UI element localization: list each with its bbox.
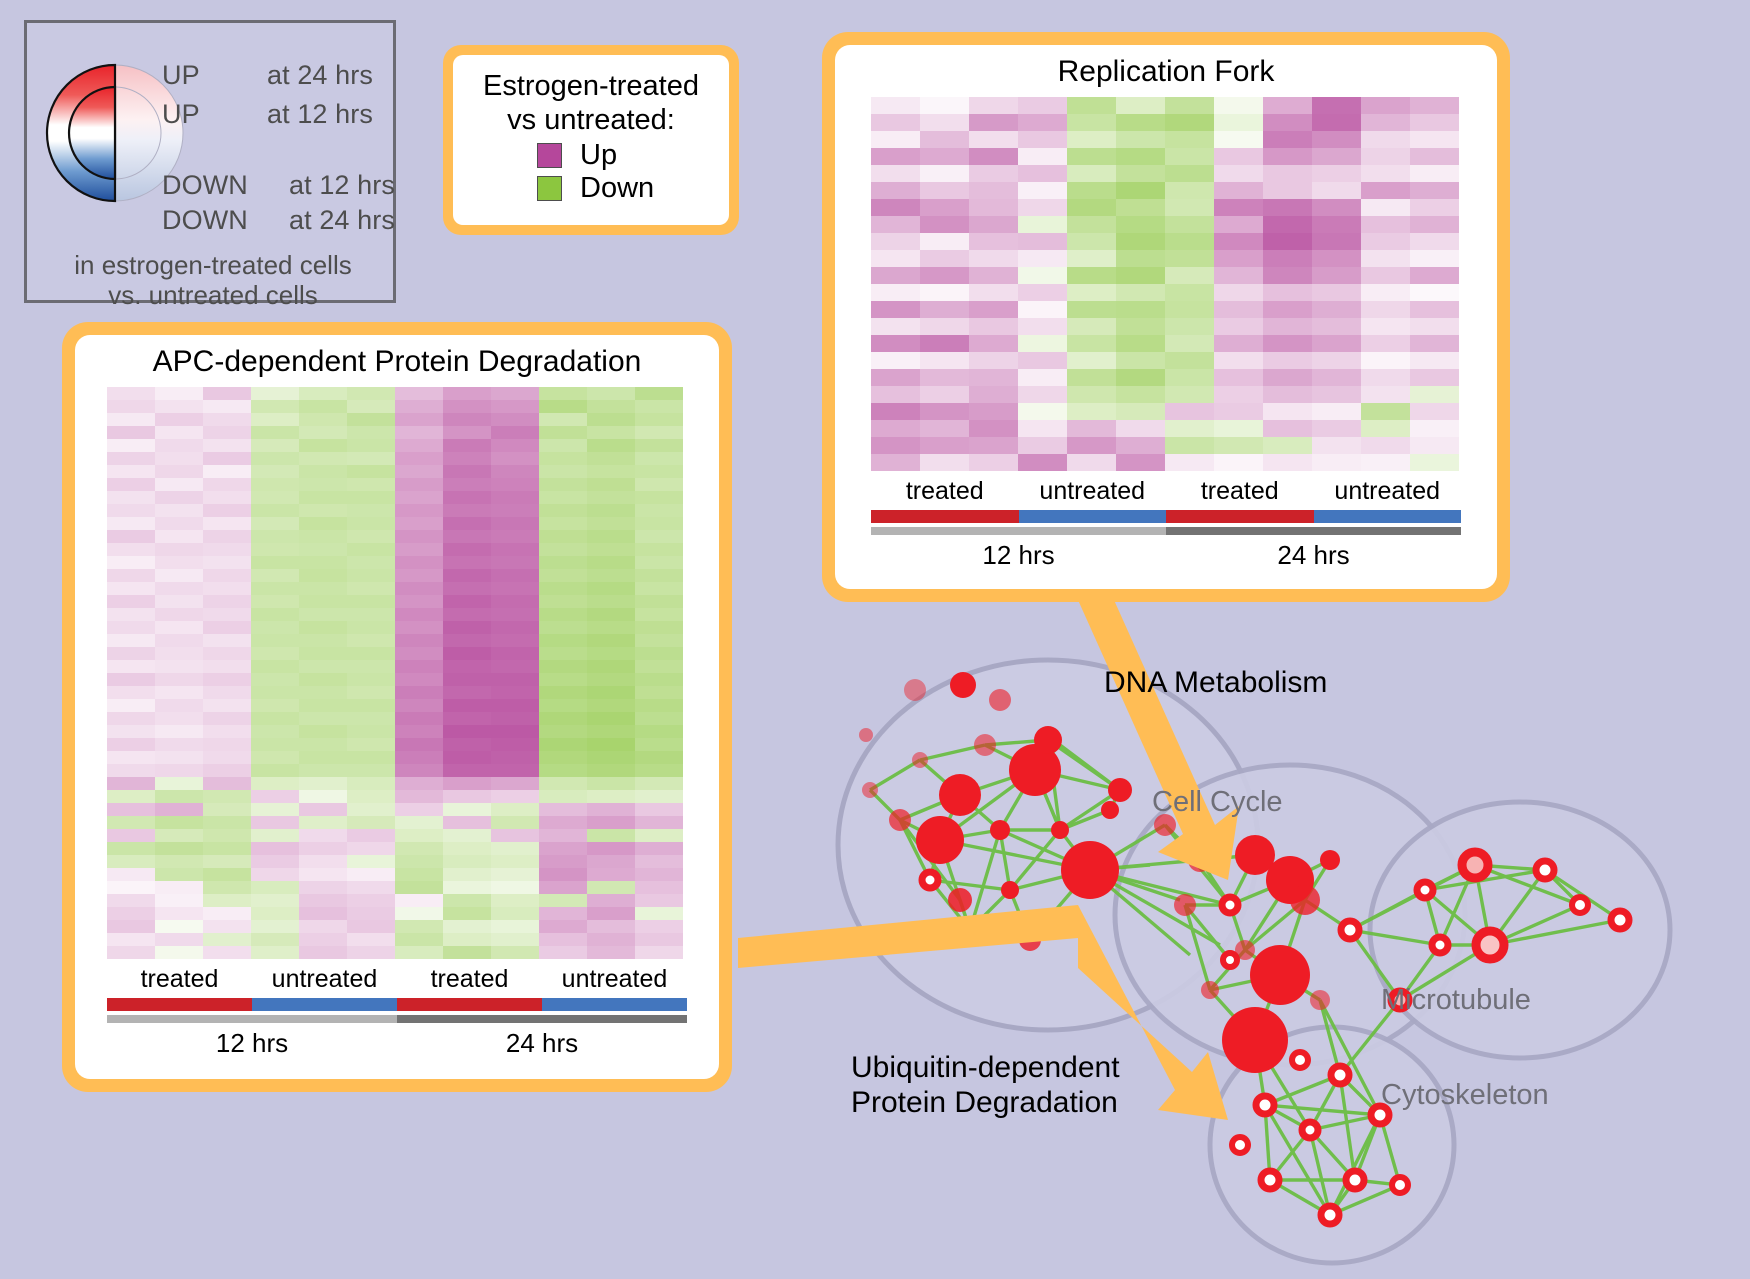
heatmap-cell xyxy=(347,946,395,959)
heatmap-cell xyxy=(1116,318,1165,335)
heatmap-cell xyxy=(347,764,395,777)
heatmap-cell xyxy=(539,933,587,946)
heatmap-cell xyxy=(1263,250,1312,267)
heatmap-cell xyxy=(203,517,251,530)
axis-group-name: treated xyxy=(397,959,542,997)
heatmap-cell xyxy=(1410,335,1459,352)
updown-legend-card: Estrogen-treated vs untreated: Up Down xyxy=(443,45,739,235)
heatmap-cell xyxy=(635,608,683,621)
axis-group-swatch xyxy=(1166,510,1314,523)
heatmap-cell xyxy=(155,673,203,686)
heatmap-cell xyxy=(1361,284,1410,301)
heatmap-cell xyxy=(635,387,683,400)
heatmap-cell xyxy=(1165,267,1214,284)
heatmap-cell xyxy=(920,437,969,454)
heatmap-cell xyxy=(1263,216,1312,233)
heatmap-cell xyxy=(1018,301,1067,318)
heatmap-cell xyxy=(969,403,1018,420)
axis-group-name: untreated xyxy=(252,959,397,997)
heatmap-cell xyxy=(443,868,491,881)
heatmap-cell xyxy=(395,881,443,894)
heatmap-cell xyxy=(155,582,203,595)
heatmap-cell xyxy=(635,673,683,686)
axis-time-name: 12 hrs xyxy=(871,535,1166,571)
heatmap-cell xyxy=(155,660,203,673)
heatmap-cell xyxy=(203,413,251,426)
heatmap-cell xyxy=(491,777,539,790)
heatmap-cell xyxy=(635,816,683,829)
heatmap-cell xyxy=(1263,420,1312,437)
heatmap-cell xyxy=(539,413,587,426)
heatmap-cell xyxy=(251,946,299,959)
heatmap-cell xyxy=(1263,454,1312,471)
heatmap-cell xyxy=(1165,437,1214,454)
heatmap-cell xyxy=(635,660,683,673)
heatmap-cell xyxy=(1214,335,1263,352)
heatmap-cell xyxy=(1067,403,1116,420)
heatmap-cell xyxy=(1214,420,1263,437)
heatmap-cell xyxy=(1312,267,1361,284)
heatmap-cell xyxy=(347,829,395,842)
heatmap-cell xyxy=(1018,437,1067,454)
heatmap-cell xyxy=(539,452,587,465)
heatmap-cell xyxy=(491,660,539,673)
heatmap-cell xyxy=(1361,182,1410,199)
heatmap-cell xyxy=(395,608,443,621)
heatmap-cell xyxy=(635,907,683,920)
heatmap-cell xyxy=(203,504,251,517)
heatmap-cell xyxy=(251,556,299,569)
heatmap-cell xyxy=(635,777,683,790)
heatmap-cell xyxy=(587,920,635,933)
heatmap-cell xyxy=(1018,182,1067,199)
heatmap-cell xyxy=(587,452,635,465)
heatmap-cell xyxy=(920,318,969,335)
heatmap-cell xyxy=(395,816,443,829)
heatmap-cell xyxy=(251,400,299,413)
key-time-down-12: at 12 hrs xyxy=(289,170,395,201)
heatmap-cell xyxy=(920,369,969,386)
heatmap-cell xyxy=(871,267,920,284)
heatmap-cell xyxy=(203,491,251,504)
heatmap-cell xyxy=(155,491,203,504)
heatmap-cell xyxy=(347,777,395,790)
heatmap-cell xyxy=(395,621,443,634)
heatmap-cell xyxy=(539,803,587,816)
heatmap-cell xyxy=(491,738,539,751)
heatmap-cell xyxy=(443,452,491,465)
heatmap-cell xyxy=(107,413,155,426)
axis-group-name: treated xyxy=(871,471,1019,509)
heatmap-cell xyxy=(395,829,443,842)
heatmap-cell xyxy=(587,647,635,660)
heatmap-cell xyxy=(1263,301,1312,318)
heatmap-cell xyxy=(443,855,491,868)
heatmap-cell xyxy=(203,647,251,660)
heatmap-cell xyxy=(443,829,491,842)
heatmap-cell xyxy=(539,387,587,400)
heatmap-cell xyxy=(1214,284,1263,301)
heatmap-cell xyxy=(203,751,251,764)
heatmap-cell xyxy=(491,829,539,842)
heatmap-cell xyxy=(395,478,443,491)
heatmap-cell xyxy=(251,842,299,855)
heatmap-cell xyxy=(107,842,155,855)
axis-time-names-replication-fork: 12 hrs24 hrs xyxy=(871,535,1461,571)
heatmap-cell xyxy=(920,335,969,352)
heatmap-cell xyxy=(251,907,299,920)
heatmap-cell xyxy=(155,777,203,790)
heatmap-cell xyxy=(587,933,635,946)
heatmap-cell xyxy=(539,920,587,933)
heatmap-cell xyxy=(1165,182,1214,199)
heatmap-cell xyxy=(251,387,299,400)
updown-title-line-2: vs untreated: xyxy=(463,103,719,137)
heatmap-cell xyxy=(1018,199,1067,216)
heatmap-cell xyxy=(107,855,155,868)
heatmap-cell xyxy=(203,569,251,582)
heatmap-cell xyxy=(1410,267,1459,284)
heatmap-cell xyxy=(203,478,251,491)
heatmap-cell xyxy=(635,920,683,933)
heatmap-cell xyxy=(347,699,395,712)
heatmap-cell xyxy=(251,595,299,608)
axis-group-name: treated xyxy=(107,959,252,997)
heatmap-cell xyxy=(299,764,347,777)
heatmap-cell xyxy=(347,647,395,660)
heatmap-cell xyxy=(107,582,155,595)
heatmap-cell xyxy=(491,543,539,556)
heatmap-cell xyxy=(443,751,491,764)
heatmap-cell xyxy=(587,855,635,868)
heatmap-cell xyxy=(1018,148,1067,165)
heatmap-cell xyxy=(107,777,155,790)
heatmap-cell xyxy=(1312,131,1361,148)
heatmap-cell xyxy=(635,946,683,959)
heatmap-cell xyxy=(1361,420,1410,437)
heatmap-cell xyxy=(969,233,1018,250)
heatmap-cell xyxy=(395,660,443,673)
heatmap-cell xyxy=(871,386,920,403)
heatmap-cell xyxy=(155,751,203,764)
heatmap-cell xyxy=(107,673,155,686)
heatmap-cell xyxy=(347,452,395,465)
heatmap-cell xyxy=(1361,403,1410,420)
heatmap-cell xyxy=(299,426,347,439)
heatmap-cell xyxy=(155,608,203,621)
heatmap-cell xyxy=(587,946,635,959)
heatmap-cell xyxy=(1361,131,1410,148)
heatmap-cell xyxy=(587,894,635,907)
heatmap-cell xyxy=(203,530,251,543)
heatmap-cell xyxy=(1116,284,1165,301)
heatmap-cell xyxy=(1116,454,1165,471)
heatmap-cell xyxy=(443,504,491,517)
heatmap-cell xyxy=(155,738,203,751)
heatmap-cell xyxy=(1018,131,1067,148)
heatmap-cell xyxy=(871,301,920,318)
heatmap-cell xyxy=(347,660,395,673)
heatmap-cell xyxy=(920,420,969,437)
axis-group-name: untreated xyxy=(542,959,687,997)
heatmap-cell xyxy=(1410,165,1459,182)
heatmap-cell xyxy=(1410,386,1459,403)
heatmap-cell xyxy=(155,881,203,894)
heatmap-cell xyxy=(1263,165,1312,182)
heatmap-cell xyxy=(491,673,539,686)
heatmap-cell xyxy=(1263,318,1312,335)
heatmap-cell xyxy=(1312,233,1361,250)
heatmap-cell xyxy=(347,725,395,738)
heatmap-cell xyxy=(1018,114,1067,131)
key-label-up-12: UP xyxy=(162,99,200,130)
heatmap-cell xyxy=(587,517,635,530)
heatmap-cell xyxy=(347,491,395,504)
heatmap-cell xyxy=(155,517,203,530)
heatmap-cell xyxy=(635,634,683,647)
heatmap-cell xyxy=(155,569,203,582)
heatmap-cell xyxy=(203,907,251,920)
heatmap-cell xyxy=(155,816,203,829)
heatmap-cell xyxy=(299,465,347,478)
heatmap-cell xyxy=(395,894,443,907)
heatmap-cell xyxy=(1165,301,1214,318)
heatmap-cell xyxy=(539,621,587,634)
heatmap-cell xyxy=(347,426,395,439)
heatmap-cell xyxy=(1214,454,1263,471)
heatmap-cell xyxy=(871,318,920,335)
heatmap-cell xyxy=(203,595,251,608)
panel-title-apc: APC-dependent Protein Degradation xyxy=(153,345,642,379)
heatmap-cell xyxy=(203,452,251,465)
heatmap-cell xyxy=(635,894,683,907)
heatmap-cell xyxy=(587,842,635,855)
heatmap-cell xyxy=(1165,97,1214,114)
heatmap-cell xyxy=(155,556,203,569)
axis-time-swatch xyxy=(397,1015,687,1023)
heatmap-cell xyxy=(107,543,155,556)
heatmap-cell xyxy=(1361,437,1410,454)
heatmap-cell xyxy=(491,894,539,907)
heatmap-cell xyxy=(587,582,635,595)
heatmap-cell xyxy=(299,842,347,855)
heatmap-cell xyxy=(395,400,443,413)
heatmap-cell xyxy=(1067,335,1116,352)
heatmap-cell xyxy=(347,569,395,582)
heatmap-cell xyxy=(1018,454,1067,471)
heatmap-cell xyxy=(107,725,155,738)
heatmap-cell xyxy=(491,855,539,868)
heatmap-cell xyxy=(1116,420,1165,437)
heatmap-cell xyxy=(1165,233,1214,250)
heatmap-cell xyxy=(920,352,969,369)
heatmap-cell xyxy=(587,465,635,478)
heatmap-cell xyxy=(107,933,155,946)
heatmap-cell xyxy=(347,634,395,647)
axis-group-swatch xyxy=(1314,510,1462,523)
heatmap-cell xyxy=(635,582,683,595)
heatmap-cell xyxy=(1116,250,1165,267)
heatmap-cell xyxy=(347,387,395,400)
heatmap-cell xyxy=(395,595,443,608)
down-color-swatch xyxy=(537,176,562,201)
heatmap-cell xyxy=(635,491,683,504)
heatmap-cell xyxy=(1018,97,1067,114)
heatmap-cell xyxy=(871,131,920,148)
heatmap-cell xyxy=(920,454,969,471)
heatmap-cell xyxy=(491,647,539,660)
axis-time-name: 24 hrs xyxy=(397,1023,687,1059)
heatmap-cell xyxy=(443,738,491,751)
heatmap-cell xyxy=(539,608,587,621)
axis-group-bar-apc xyxy=(107,998,687,1011)
heatmap-cell xyxy=(299,907,347,920)
heatmap-cell xyxy=(539,660,587,673)
heatmap-cell xyxy=(395,933,443,946)
heatmap-cell xyxy=(299,829,347,842)
heatmap-cell xyxy=(1312,386,1361,403)
key-footer-line-2: vs. untreated cells xyxy=(27,281,399,311)
heatmap-cell xyxy=(587,803,635,816)
color-key-box: UP at 24 hrs UP at 12 hrs DOWN at 12 hrs… xyxy=(24,20,396,303)
heatmap-cell xyxy=(395,790,443,803)
heatmap-cell xyxy=(635,738,683,751)
heatmap-cell xyxy=(203,660,251,673)
heatmap-cell xyxy=(1067,454,1116,471)
heatmap-cell xyxy=(539,946,587,959)
heatmap-cell xyxy=(539,699,587,712)
heatmap-cell xyxy=(539,868,587,881)
heatmap-cell xyxy=(587,790,635,803)
heatmap-cell xyxy=(969,114,1018,131)
heatmap-cell xyxy=(1312,148,1361,165)
heatmap-cell xyxy=(1116,97,1165,114)
heatmap-cell xyxy=(539,569,587,582)
heatmap-cell xyxy=(1116,182,1165,199)
heatmap-cell xyxy=(491,920,539,933)
heatmap-cell xyxy=(107,894,155,907)
heatmap-cell xyxy=(203,868,251,881)
heatmap-cell xyxy=(107,387,155,400)
heatmap-cell xyxy=(347,881,395,894)
heatmap-cell xyxy=(155,647,203,660)
heatmap-cell xyxy=(395,777,443,790)
heatmap-cell xyxy=(299,725,347,738)
heatmap-cell xyxy=(1410,352,1459,369)
heatmap-cell xyxy=(203,673,251,686)
panel-apc-degradation: APC-dependent Protein Degradation treate… xyxy=(62,322,732,1092)
heatmap-cell xyxy=(155,595,203,608)
heatmap-cell xyxy=(1067,131,1116,148)
heatmap-cell xyxy=(587,816,635,829)
heatmap-cell xyxy=(155,634,203,647)
heatmap-cell xyxy=(443,621,491,634)
heatmap-cell xyxy=(443,387,491,400)
heatmap-cell xyxy=(203,764,251,777)
heatmap-cell xyxy=(539,777,587,790)
heatmap-cell xyxy=(539,634,587,647)
heatmap-cell xyxy=(1312,284,1361,301)
heatmap-cell xyxy=(1410,182,1459,199)
heatmap-cell xyxy=(443,777,491,790)
heatmap-cell xyxy=(443,842,491,855)
heatmap-cell xyxy=(491,816,539,829)
heatmap-cell xyxy=(587,751,635,764)
heatmap-cell xyxy=(491,842,539,855)
heatmap-cell xyxy=(539,530,587,543)
heatmap-cell xyxy=(920,250,969,267)
heatmap-cell xyxy=(1165,216,1214,233)
heatmap-cell xyxy=(395,686,443,699)
heatmap-cell xyxy=(107,608,155,621)
heatmap-cell xyxy=(347,673,395,686)
heatmap-cell xyxy=(1067,199,1116,216)
heatmap-cell xyxy=(920,216,969,233)
heatmap-cell xyxy=(635,842,683,855)
heatmap-cell xyxy=(1361,369,1410,386)
axis-time-bar-apc xyxy=(107,1015,687,1023)
heatmap-cell xyxy=(299,478,347,491)
heatmap-cell xyxy=(107,699,155,712)
heatmap-cell xyxy=(395,764,443,777)
heatmap-cell xyxy=(491,803,539,816)
updown-title-line-1: Estrogen-treated xyxy=(463,69,719,103)
heatmap-cell xyxy=(347,790,395,803)
updown-legend-title: Estrogen-treated vs untreated: xyxy=(463,69,719,137)
heatmap-cell xyxy=(107,829,155,842)
heatmap-cell xyxy=(203,933,251,946)
heatmap-cell xyxy=(491,595,539,608)
heatmap-cell xyxy=(251,725,299,738)
cluster-label-dna-metabolism: DNA Metabolism xyxy=(1104,665,1327,700)
heatmap-cell xyxy=(107,595,155,608)
heatmap-cell xyxy=(1361,216,1410,233)
heatmap-cell xyxy=(587,907,635,920)
heatmap-cell xyxy=(871,114,920,131)
heatmap-cell xyxy=(251,673,299,686)
heatmap-cell xyxy=(635,504,683,517)
heatmap-cell xyxy=(1214,165,1263,182)
heatmap-cell xyxy=(920,199,969,216)
heatmap-cell xyxy=(299,712,347,725)
heatmap-cell xyxy=(539,816,587,829)
heatmap-cell xyxy=(155,725,203,738)
heatmap-cell xyxy=(969,182,1018,199)
heatmap-cell xyxy=(1165,114,1214,131)
heatmap-cell xyxy=(871,199,920,216)
heatmap-cell xyxy=(587,439,635,452)
heatmap-cell xyxy=(635,699,683,712)
heatmap-cell xyxy=(587,413,635,426)
heatmap-cell xyxy=(1067,386,1116,403)
heatmap-cell xyxy=(1067,318,1116,335)
heatmap-cell xyxy=(871,250,920,267)
heatmap-cell xyxy=(395,712,443,725)
heatmap-cell xyxy=(251,790,299,803)
heatmap-cell xyxy=(1263,114,1312,131)
key-footer: in estrogen-treated cells vs. untreated … xyxy=(27,251,399,311)
heatmap-cell xyxy=(635,881,683,894)
heatmap-cell xyxy=(491,504,539,517)
up-color-swatch xyxy=(537,143,562,168)
heatmap-cell xyxy=(635,790,683,803)
heatmap-cell xyxy=(251,647,299,660)
axis-time-name: 12 hrs xyxy=(107,1023,397,1059)
heatmap-cell xyxy=(251,439,299,452)
heatmap-cell xyxy=(539,673,587,686)
heatmap-cell xyxy=(443,556,491,569)
heatmap-cell xyxy=(347,504,395,517)
